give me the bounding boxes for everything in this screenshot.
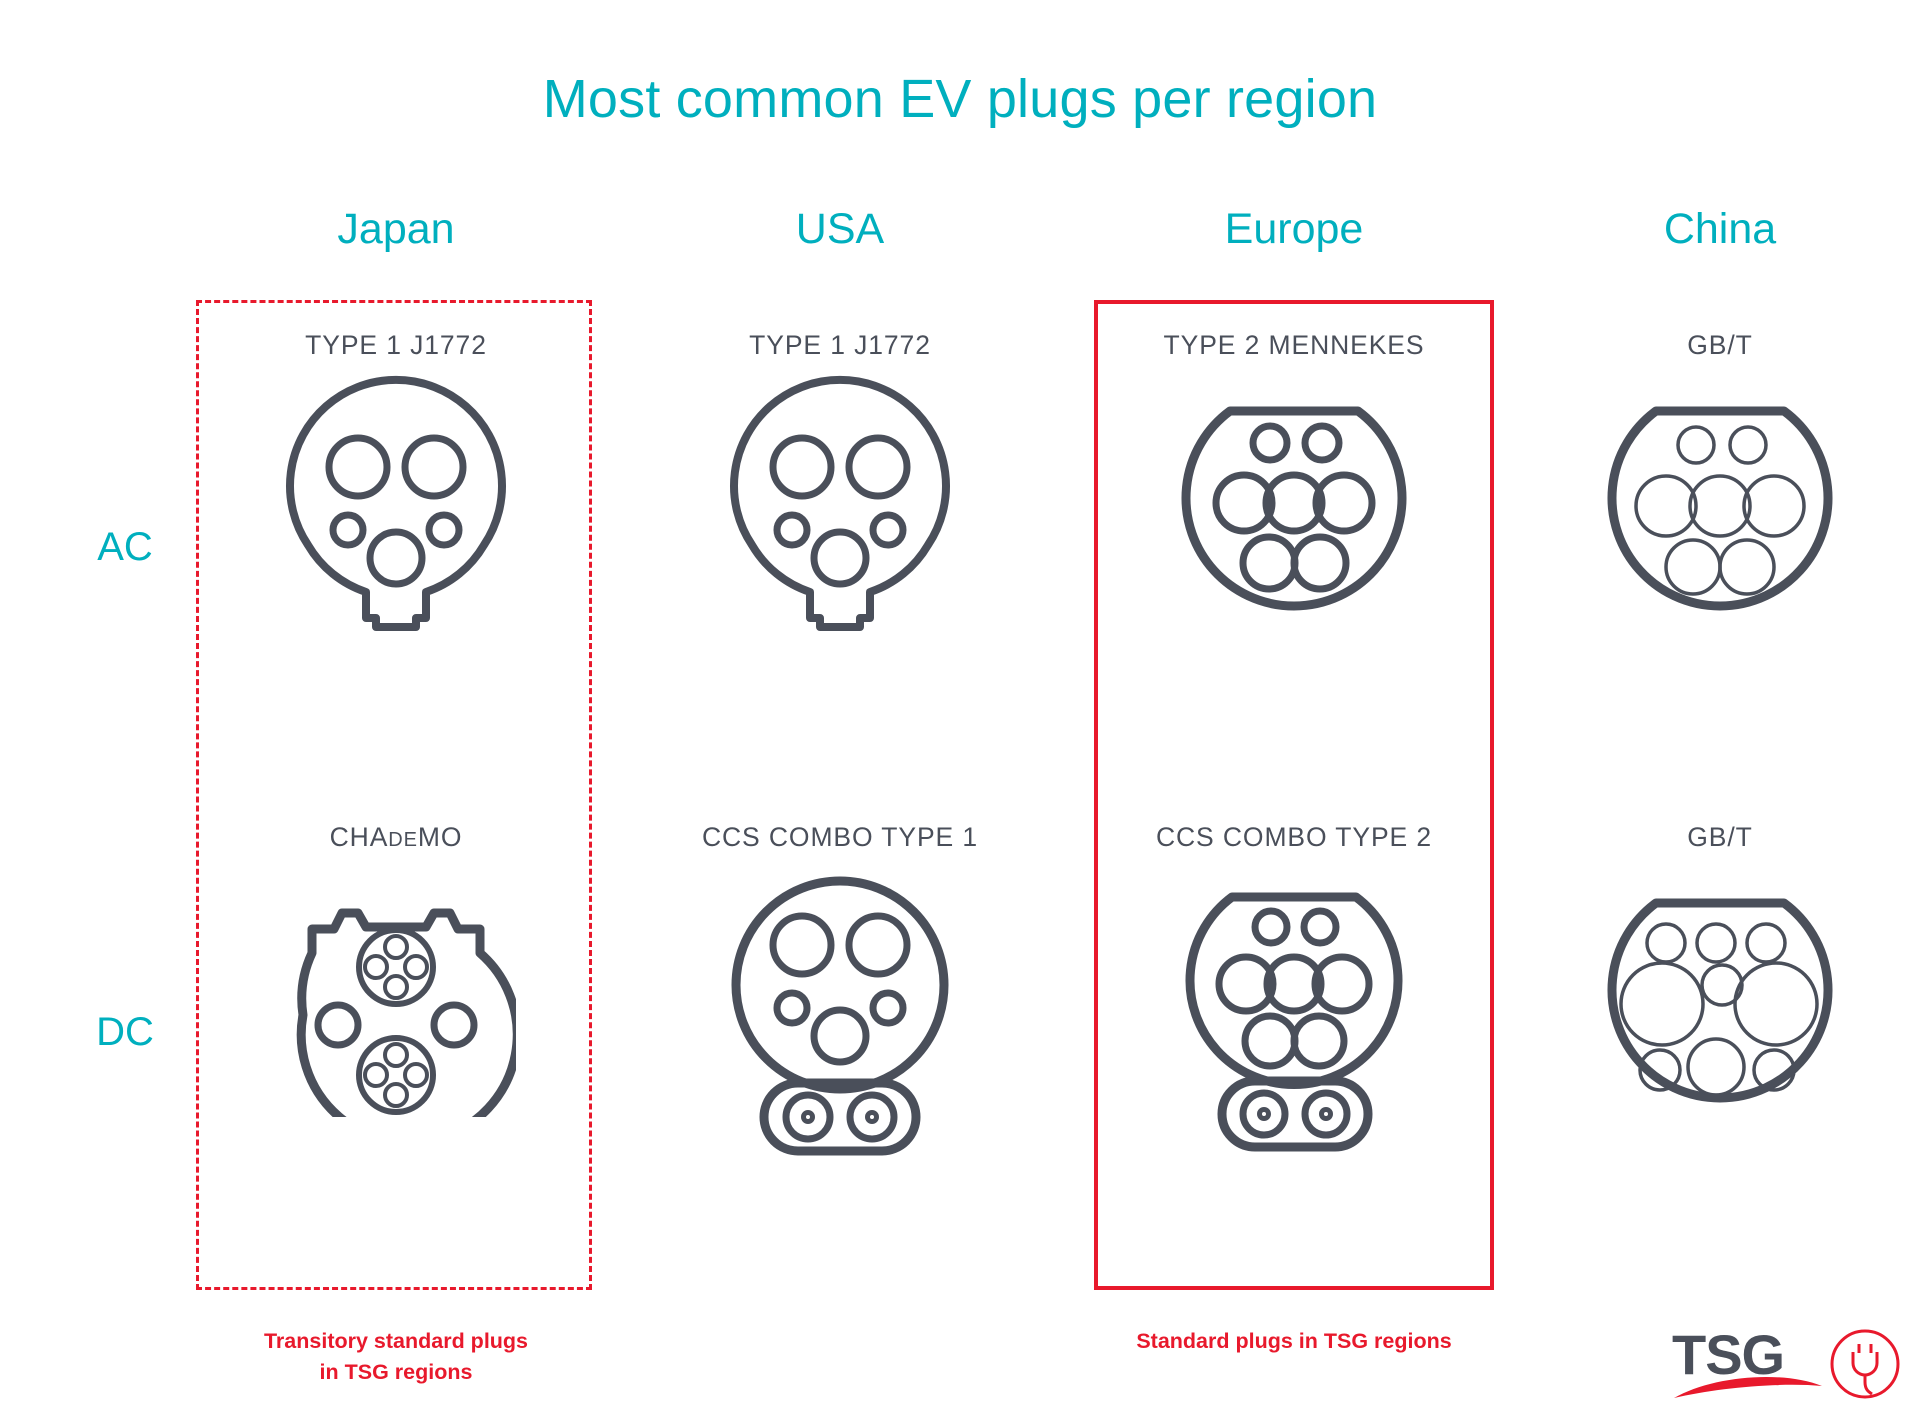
cell-china-dc: GB/T [1520,822,1920,1117]
chademo-small: DE [388,829,418,851]
cell-china-ac: GB/T [1520,330,1920,625]
plug-art-chademo [196,867,596,1117]
footnote-europe: Standard plugs in TSG regions [1094,1326,1494,1357]
plug-label-europe-ac: TYPE 2 MENNEKES [1094,330,1494,361]
region-header-japan: Japan [196,205,596,254]
tsg-wordmark: TSG [1672,1323,1784,1386]
infographic-canvas: Most common EV plugs per region Japan US… [0,0,1920,1421]
plug-label-japan-ac: TYPE 1 J1772 [196,330,596,361]
cell-europe-ac: TYPE 2 MENNEKES [1094,330,1494,625]
plug-label-japan-dc: CHADEMO [196,822,596,853]
plug-art-ccs-combo-type2 [1094,867,1494,1157]
plug-label-usa-ac: TYPE 1 J1772 [640,330,1040,361]
cell-japan-ac: TYPE 1 J1772 [196,330,596,635]
cell-usa-dc: CCS COMBO TYPE 1 [640,822,1040,1157]
chademo-tail: MO [418,822,463,852]
plug-art-gbt-ac [1520,375,1920,625]
plug-in-circle-icon [1832,1331,1898,1397]
plug-label-china-dc: GB/T [1520,822,1920,853]
page-title: Most common EV plugs per region [0,68,1920,130]
plug-label-usa-dc: CCS COMBO TYPE 1 [640,822,1040,853]
cell-europe-dc: CCS COMBO TYPE 2 [1094,822,1494,1157]
plug-art-type2-mennekes [1094,375,1494,625]
plug-art-type1-j1772-usa [640,375,1040,635]
region-header-china: China [1520,205,1920,254]
plug-label-europe-dc: CCS COMBO TYPE 2 [1094,822,1494,853]
footnote-japan-line2: in TSG regions [196,1357,596,1388]
row-label-ac: AC [60,525,190,570]
plug-art-gbt-dc [1520,867,1920,1117]
region-header-europe: Europe [1094,205,1494,254]
row-label-dc: DC [60,1010,190,1055]
region-header-usa: USA [640,205,1040,254]
cell-usa-ac: TYPE 1 J1772 [640,330,1040,635]
plug-art-ccs-combo-type1 [640,867,1040,1157]
chademo-lead: CHA [330,822,389,852]
plug-label-china-ac: GB/T [1520,330,1920,361]
cell-japan-dc: CHADEMO [196,822,596,1117]
plug-art-type1-j1772-japan [196,375,596,635]
footnote-japan-line1: Transitory standard plugs [196,1326,596,1357]
footnote-japan: Transitory standard plugs in TSG regions [196,1326,596,1387]
tsg-logo: TSG [1672,1322,1902,1408]
